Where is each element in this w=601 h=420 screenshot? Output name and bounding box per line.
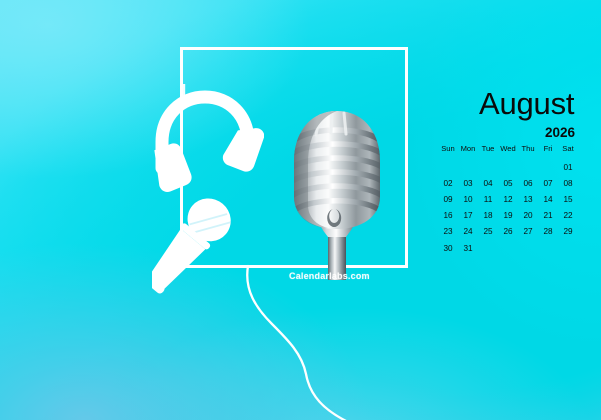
calendar-day-28[interactable]: 28 (538, 224, 558, 240)
calendar-week-row: 01 (438, 159, 578, 175)
calendar-day-03[interactable]: 03 (458, 175, 478, 191)
calendar-day-26[interactable]: 26 (498, 224, 518, 240)
calendar-day-17[interactable]: 17 (458, 208, 478, 224)
calendar-day-24[interactable]: 24 (458, 224, 478, 240)
calendar-weekday-sun: Sun (438, 144, 458, 159)
wallpaper-canvas: Calendarlabs.com August 2026 SunMonTueWe… (0, 0, 601, 420)
calendar-day-empty (458, 159, 478, 175)
calendar-day-23[interactable]: 23 (438, 224, 458, 240)
calendar-weekday-fri: Fri (538, 144, 558, 159)
calendar-weekday-thu: Thu (518, 144, 538, 159)
decorative-photo-frame (180, 47, 408, 268)
calendar-day-21[interactable]: 21 (538, 208, 558, 224)
calendar-day-01[interactable]: 01 (558, 159, 578, 175)
calendar-day-04[interactable]: 04 (478, 175, 498, 191)
calendar-day-empty (518, 159, 538, 175)
calendar-day-empty (518, 240, 538, 256)
calendar-body: 0102030405060708091011121314151617181920… (438, 159, 578, 256)
calendar-grid: SunMonTueWedThuFriSat 010203040506070809… (438, 144, 578, 256)
year-label: 2026 (438, 125, 584, 140)
calendar-weekday-tue: Tue (478, 144, 498, 159)
calendar-day-14[interactable]: 14 (538, 191, 558, 207)
calendar-day-12[interactable]: 12 (498, 191, 518, 207)
calendar-day-06[interactable]: 06 (518, 175, 538, 191)
calendar-day-18[interactable]: 18 (478, 208, 498, 224)
calendar-day-empty (558, 240, 578, 256)
calendar-day-20[interactable]: 20 (518, 208, 538, 224)
calendar-day-25[interactable]: 25 (478, 224, 498, 240)
calendar-day-15[interactable]: 15 (558, 191, 578, 207)
calendar-day-05[interactable]: 05 (498, 175, 518, 191)
calendar-weekday-mon: Mon (458, 144, 478, 159)
calendar-week-row: 16171819202122 (438, 208, 578, 224)
calendar-day-09[interactable]: 09 (438, 191, 458, 207)
calendar-week-row: 3031 (438, 240, 578, 256)
calendar-week-row: 23242526272829 (438, 224, 578, 240)
calendar-day-empty (438, 159, 458, 175)
calendar-day-empty (498, 159, 518, 175)
calendar-day-07[interactable]: 07 (538, 175, 558, 191)
calendar-day-empty (478, 240, 498, 256)
calendar-day-10[interactable]: 10 (458, 191, 478, 207)
calendar-day-29[interactable]: 29 (558, 224, 578, 240)
calendar-day-empty (538, 159, 558, 175)
calendar-block: August 2026 SunMonTueWedThuFriSat 010203… (438, 88, 584, 256)
calendar-day-31[interactable]: 31 (458, 240, 478, 256)
calendar-day-22[interactable]: 22 (558, 208, 578, 224)
month-title: August (479, 88, 584, 119)
calendar-weekday-sat: Sat (558, 144, 578, 159)
calendar-day-13[interactable]: 13 (518, 191, 538, 207)
calendar-weekday-header-row: SunMonTueWedThuFriSat (438, 144, 578, 159)
calendar-day-empty (478, 159, 498, 175)
calendar-week-row: 09101112131415 (438, 191, 578, 207)
calendar-day-empty (538, 240, 558, 256)
calendar-day-11[interactable]: 11 (478, 191, 498, 207)
watermark-text: Calendarlabs.com (289, 271, 370, 281)
calendar-day-30[interactable]: 30 (438, 240, 458, 256)
calendar-day-19[interactable]: 19 (498, 208, 518, 224)
calendar-day-16[interactable]: 16 (438, 208, 458, 224)
calendar-week-row: 02030405060708 (438, 175, 578, 191)
calendar-day-02[interactable]: 02 (438, 175, 458, 191)
calendar-weekday-wed: Wed (498, 144, 518, 159)
calendar-day-empty (498, 240, 518, 256)
calendar-day-08[interactable]: 08 (558, 175, 578, 191)
calendar-day-27[interactable]: 27 (518, 224, 538, 240)
